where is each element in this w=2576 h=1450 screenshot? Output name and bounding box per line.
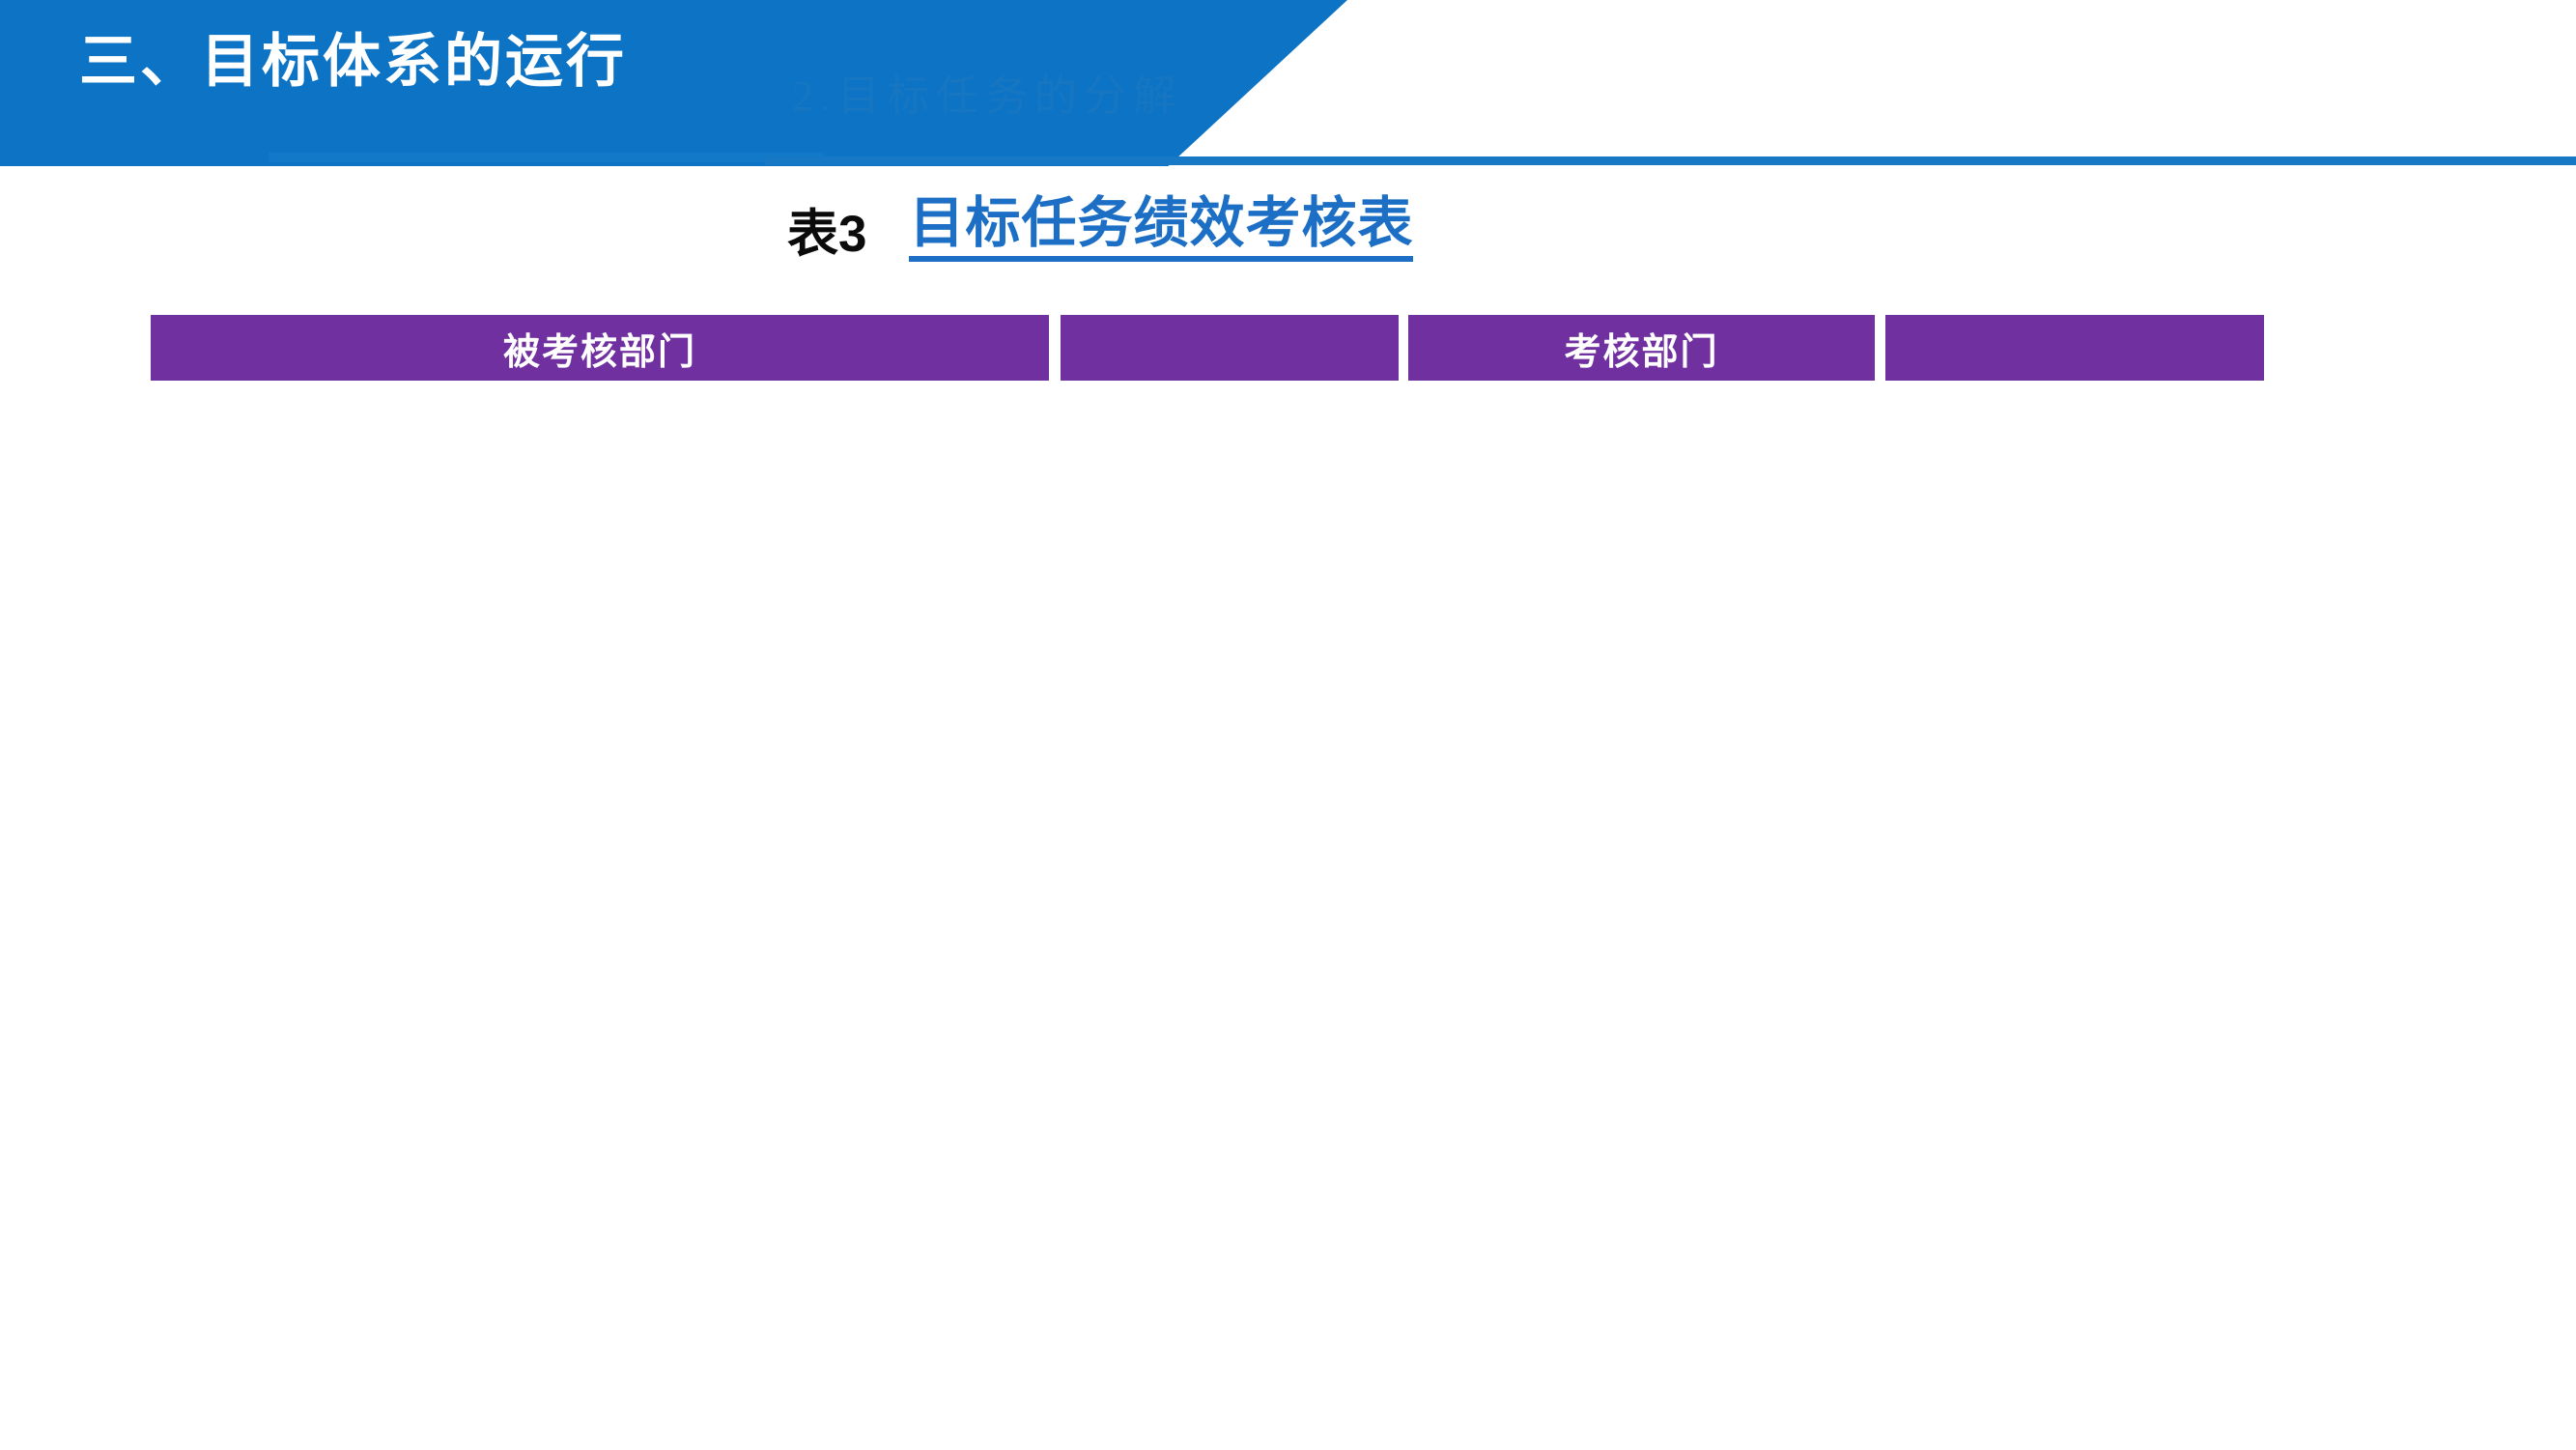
table-row[interactable]: 1 bbox=[151, 558, 230, 576]
table-row[interactable] bbox=[151, 477, 230, 547]
table-row[interactable]: 来自于表3的一、二、三级目标任务 bbox=[470, 477, 571, 547]
table-row[interactable]: 根据任务的重要度、难度进行权重划分 bbox=[1161, 477, 1341, 547]
table-row[interactable]: 来自于表3的一、二、三级目标任务 bbox=[340, 477, 458, 547]
subsection-rule bbox=[765, 156, 2576, 165]
table-row[interactable]: 依据要点内涵、文件精神、完成数量、质量、成本、时间、上级或客户的满意程度角度制定… bbox=[719, 477, 1148, 547]
table-caption-number: 表3 bbox=[787, 208, 866, 262]
group-segment-blank-1 bbox=[1061, 315, 1399, 381]
table-header-task-attribute: 任务属性 bbox=[242, 442, 327, 466]
group-segment-blank-2 bbox=[1885, 315, 2264, 381]
group-segment-assessed-dept: 被考核部门 bbox=[151, 315, 1049, 381]
banner-underline bbox=[269, 153, 824, 162]
table-row[interactable] bbox=[470, 558, 571, 576]
table-caption: 表3 目标任务绩效考核表 bbox=[787, 195, 1413, 262]
table-row[interactable] bbox=[470, 587, 571, 605]
table-row[interactable] bbox=[1353, 477, 1454, 547]
table-row[interactable] bbox=[1353, 558, 1454, 576]
table-header-level3-task: 三级目标任务 bbox=[583, 442, 706, 466]
table-row[interactable] bbox=[719, 558, 1148, 576]
table-header-serial: 序号 bbox=[151, 442, 230, 466]
table-row[interactable]: A bbox=[242, 558, 327, 576]
group-segment-assessing-dept: 考核部门 bbox=[1408, 315, 1875, 381]
table-row[interactable]: B bbox=[242, 587, 327, 605]
table-header-dept-score: 考核部门评分 bbox=[1466, 442, 1561, 466]
table-header-level1-task: 一级目标任务 bbox=[340, 442, 458, 466]
table-row[interactable] bbox=[340, 587, 458, 605]
table-caption-title: 目标任务绩效考核表 bbox=[909, 195, 1413, 262]
table-row[interactable] bbox=[340, 558, 458, 576]
table-row[interactable] bbox=[583, 587, 706, 605]
table-row[interactable] bbox=[583, 558, 706, 576]
slide-canvas: 三、目标体系的运行 2.目标任务的分解 表3 目标任务绩效考核表 被考核部门 考… bbox=[0, 0, 2576, 1450]
subsection-title: 2.目标任务的分解 bbox=[792, 75, 1182, 118]
table-row[interactable] bbox=[1353, 587, 1454, 605]
table-row[interactable] bbox=[1161, 558, 1341, 576]
table-row[interactable] bbox=[1466, 558, 1561, 576]
performance-assessment-table: 序号 任务属性 一级目标任务 二级目标任务 三级目标任务 考核标准 权重 自评分… bbox=[151, 442, 2264, 605]
table-row[interactable] bbox=[242, 477, 327, 547]
section-title: 三、目标体系的运行 bbox=[79, 33, 627, 91]
table-row[interactable] bbox=[1466, 587, 1561, 605]
table-header-assessment-standard: 考核标准 bbox=[719, 442, 1148, 466]
table-row[interactable] bbox=[1161, 587, 1341, 605]
group-bar: 被考核部门 考核部门 bbox=[151, 315, 2264, 381]
table-header-level2-task: 二级目标任务 bbox=[470, 442, 571, 466]
table-header-self-score: 自评分数 bbox=[1353, 442, 1454, 466]
table-row[interactable] bbox=[1466, 477, 1561, 547]
table-row[interactable] bbox=[719, 587, 1148, 605]
table-row[interactable]: 来自于表3的一、二、三级目标任务 bbox=[583, 477, 706, 547]
table-row[interactable]: 2 bbox=[151, 587, 230, 605]
table-header-weight: 权重 bbox=[1161, 442, 1341, 466]
